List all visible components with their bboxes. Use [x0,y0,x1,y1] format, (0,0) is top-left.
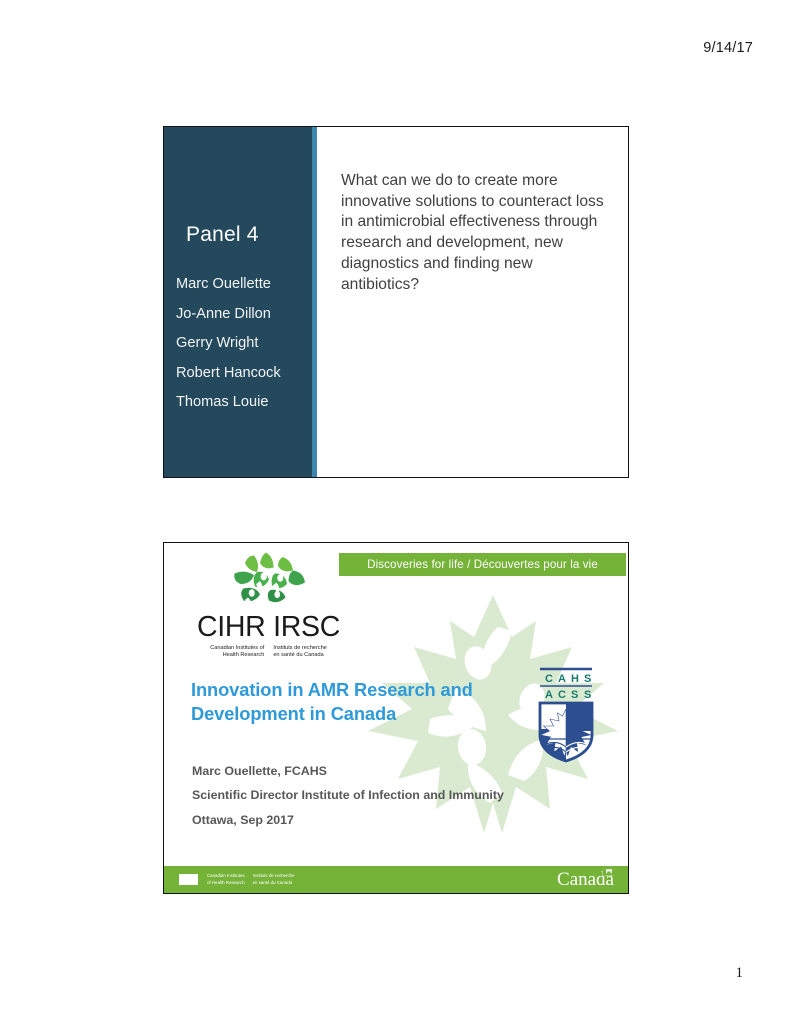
panel-title: Panel 4 [186,223,259,247]
slide-cihr-title: Discoveries for life / Découvertes pour … [163,542,629,894]
svg-text:H: H [571,673,579,685]
page-date: 9/14/17 [703,40,753,56]
cihr-logo: CIHR IRSC Canadian Institutes of Health … [186,551,351,659]
slide-1-body: What can we do to create more innovative… [317,127,628,477]
byline-location-date: Ottawa, Sep 2017 [192,814,592,826]
footer-sig-fr-line1: Instituts de recherche [253,873,295,878]
footer-cihr-signature: Canadian Institutes of Health Research I… [207,873,295,885]
slide-footer: Canadian Institutes of Health Research I… [164,866,628,893]
svg-text:C: C [558,689,566,701]
tagline-banner: Discoveries for life / Découvertes pour … [339,553,626,576]
cihr-subtitle-en-line2: Health Research [223,652,265,658]
footer-sig-fr: Instituts de recherche en santé du Canad… [253,873,295,885]
canada-wordmark-flag-icon [603,869,615,876]
slide-1-sidebar: Panel 4 Marc Ouellette Jo-Anne Dillon Ge… [164,127,317,477]
slide-panel-4: Panel 4 Marc Ouellette Jo-Anne Dillon Ge… [163,126,629,478]
cihr-subtitle-en-line1: Canadian Institutes of [210,645,264,651]
svg-text:A: A [545,689,553,701]
page-number: 1 [736,965,744,982]
svg-text:S: S [584,689,591,701]
list-item: Thomas Louie [176,395,309,410]
list-item: Jo-Anne Dillon [176,307,309,322]
footer-sig-en: Canadian Institutes of Health Research [207,873,245,885]
cihr-subtitle-en: Canadian Institutes of Health Research [210,645,264,660]
byline-role: Scientific Director Institute of Infecti… [192,789,592,801]
cihr-wordmark: CIHR IRSC [186,613,351,642]
svg-text:A: A [558,673,566,685]
panel-question: What can we do to create more innovative… [341,171,612,295]
list-item: Gerry Wright [176,336,309,351]
svg-text:S: S [571,689,578,701]
svg-text:C: C [545,673,553,685]
presentation-title: Innovation in AMR Research and Developme… [191,678,531,726]
list-item: Robert Hancock [176,366,309,381]
cihr-maple-leaf-icon [220,551,312,611]
byline-presenter: Marc Ouellette, FCAHS [192,765,592,777]
tagline-text: Discoveries for life / Découvertes pour … [367,558,598,571]
slide-1-inner: Panel 4 Marc Ouellette Jo-Anne Dillon Ge… [164,127,628,477]
footer-sig-fr-line2: en santé du Canada [253,880,293,885]
presenter-byline: Marc Ouellette, FCAHS Scientific Directo… [192,765,592,838]
footer-sig-en-line2: of Health Research [207,880,245,885]
canadian-flag-icon [179,874,198,885]
svg-text:S: S [584,673,591,685]
panelist-list: Marc Ouellette Jo-Anne Dillon Gerry Wrig… [176,277,309,425]
canada-wordmark: Canada [557,870,614,889]
cihr-bilingual-subtitle: Canadian Institutes of Health Research I… [186,645,351,660]
cihr-subtitle-fr-line2: en santé du Canada [273,652,323,658]
cihr-subtitle-fr-line1: Instituts de recherche [273,645,326,651]
list-item: Marc Ouellette [176,277,309,292]
cahs-acss-shield-logo: C A H S A C S S [532,665,600,763]
cihr-subtitle-fr: Instituts de recherche en santé du Canad… [273,645,326,660]
slide-2-inner: Discoveries for life / Découvertes pour … [164,543,628,893]
footer-sig-en-line1: Canadian Institutes [207,873,245,878]
